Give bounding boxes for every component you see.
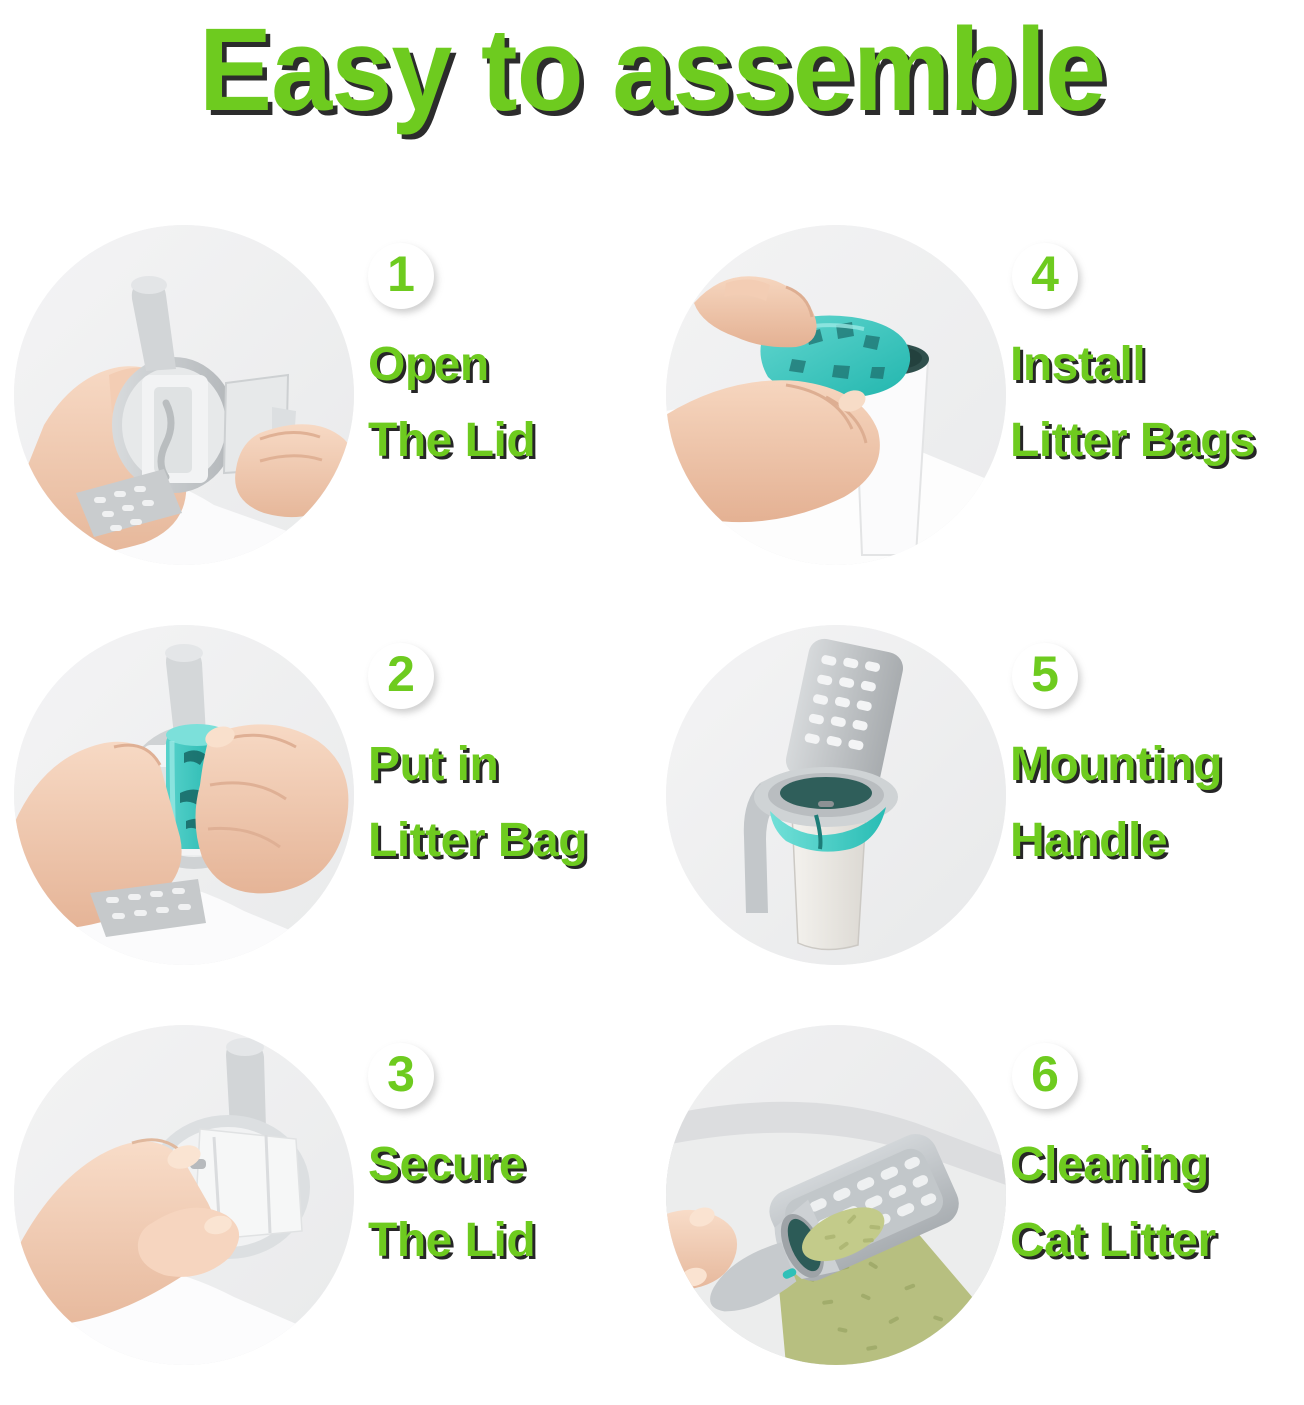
step-label-line1: Put in: [368, 727, 658, 803]
step-text-6: 6 Cleaning Cat Litter: [1004, 1023, 1304, 1383]
step-number-badge-6: 6: [1012, 1043, 1078, 1109]
step-label-2: Put in Litter Bag: [368, 727, 658, 879]
photo-secure-the-lid: [14, 1025, 354, 1365]
photo-install-litter-bags: [666, 225, 1006, 565]
page-title: Easy to assemble: [46, 4, 1259, 136]
photo-put-in-litter-bag: [14, 625, 354, 965]
step-number-1: 1: [387, 249, 415, 299]
photo-mounting-handle: [666, 625, 1006, 965]
step-number-6: 6: [1031, 1049, 1059, 1099]
step-label-5: Mounting Handle: [1010, 727, 1304, 879]
step-label-line2: Litter Bag: [368, 803, 658, 879]
step-text-4: 4 Install Litter Bags: [1004, 223, 1304, 583]
step-card-1: 1 Open The Lid: [0, 205, 652, 605]
step-label-3: Secure The Lid: [368, 1127, 658, 1279]
step-text-1: 1 Open The Lid: [360, 223, 652, 583]
photo-open-the-lid: [14, 225, 354, 565]
step-label-line1: Cleaning: [1010, 1127, 1304, 1203]
step-label-4: Install Litter Bags: [1010, 327, 1304, 479]
step-number-4: 4: [1031, 249, 1059, 299]
step-label-line2: The Lid: [368, 403, 658, 479]
step-text-5: 5 Mounting Handle: [1004, 623, 1304, 983]
step-number-3: 3: [387, 1049, 415, 1099]
step-label-1: Open The Lid: [368, 327, 658, 479]
step-label-line2: Cat Litter: [1010, 1203, 1304, 1279]
step-number-badge-2: 2: [368, 643, 434, 709]
step-card-4: 4 Install Litter Bags: [652, 205, 1304, 605]
step-number-badge-5: 5: [1012, 643, 1078, 709]
step-number-5: 5: [1031, 649, 1059, 699]
step-label-line1: Mounting: [1010, 727, 1304, 803]
step-label-6: Cleaning Cat Litter: [1010, 1127, 1304, 1279]
step-number-2: 2: [387, 649, 415, 699]
step-text-3: 3 Secure The Lid: [360, 1023, 652, 1383]
step-label-line2: Handle: [1010, 803, 1304, 879]
step-card-2: 2 Put in Litter Bag: [0, 605, 652, 1005]
step-label-line1: Secure: [368, 1127, 658, 1203]
step-number-badge-3: 3: [368, 1043, 434, 1109]
step-label-line2: The Lid: [368, 1203, 658, 1279]
step-text-2: 2 Put in Litter Bag: [360, 623, 652, 983]
step-card-5: 5 Mounting Handle: [652, 605, 1304, 1005]
step-label-line1: Open: [368, 327, 658, 403]
step-number-badge-4: 4: [1012, 243, 1078, 309]
step-card-3: 3 Secure The Lid: [0, 1005, 652, 1405]
photo-cleaning-cat-litter: [666, 1025, 1006, 1365]
step-number-badge-1: 1: [368, 243, 434, 309]
step-label-line2: Litter Bags: [1010, 403, 1304, 479]
steps-grid: 1 Open The Lid: [0, 205, 1304, 1401]
step-card-6: 6 Cleaning Cat Litter: [652, 1005, 1304, 1405]
step-label-line1: Install: [1010, 327, 1304, 403]
